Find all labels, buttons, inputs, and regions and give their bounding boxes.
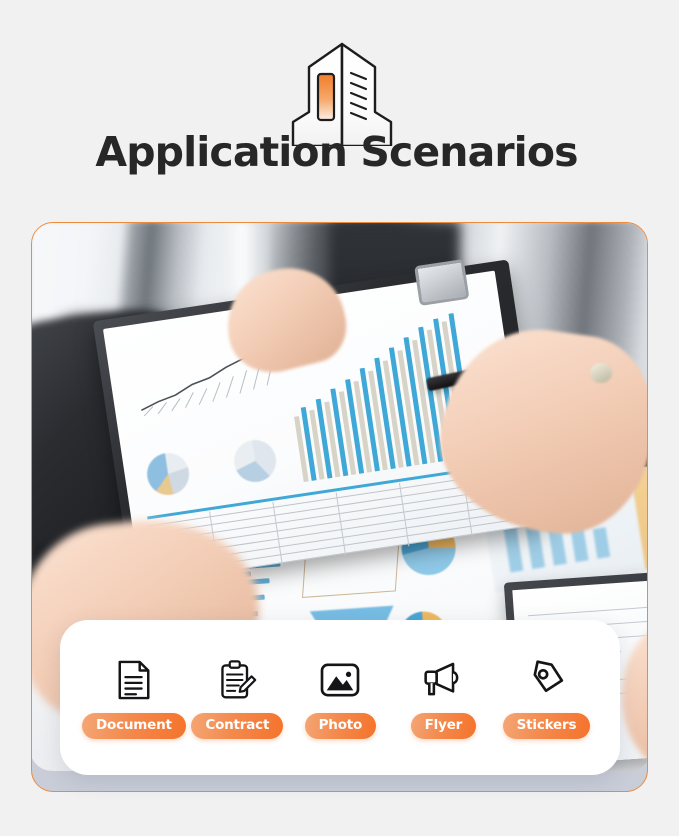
- contract-clipboard-icon: [217, 657, 257, 703]
- page-header: Application Scenarios: [0, 0, 679, 212]
- photo-ring: [590, 363, 612, 383]
- photo-image-icon: [319, 657, 361, 703]
- category-item-contract[interactable]: Contract: [186, 657, 289, 739]
- price-tag-icon: [526, 657, 566, 703]
- category-label: Document: [82, 713, 186, 739]
- category-item-flyer[interactable]: Flyer: [392, 657, 495, 739]
- category-item-stickers[interactable]: Stickers: [495, 657, 598, 739]
- category-label: Flyer: [411, 713, 476, 739]
- page-title: Application Scenarios: [95, 126, 583, 178]
- category-item-document[interactable]: Document: [82, 657, 186, 739]
- megaphone-icon: [422, 657, 464, 703]
- photo-pie-chart: [231, 437, 279, 485]
- category-item-photo[interactable]: Photo: [289, 657, 392, 739]
- category-label: Contract: [191, 713, 283, 739]
- photo-clipboard-clip: [414, 259, 469, 306]
- photo-pie-chart: [144, 450, 192, 498]
- category-label: Photo: [305, 713, 377, 739]
- document-icon: [115, 657, 153, 703]
- title-row: Application Scenarios: [0, 126, 679, 178]
- category-card: Document Contract: [60, 620, 620, 775]
- category-label: Stickers: [503, 713, 591, 739]
